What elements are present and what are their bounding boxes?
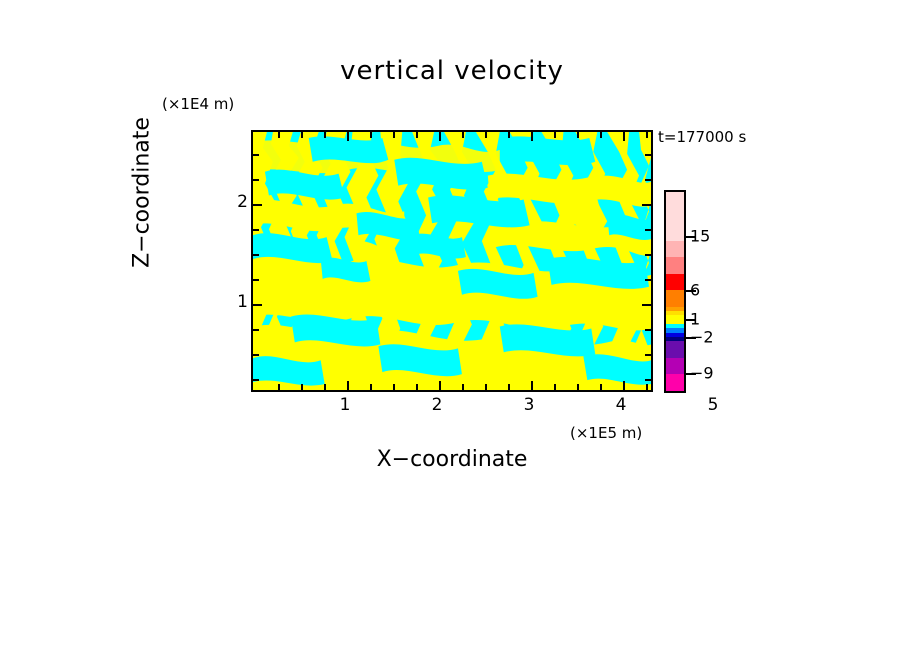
y-tick [253, 379, 259, 381]
colorbar-label: 1 [690, 310, 700, 329]
x-tick-top [485, 132, 487, 138]
y-tick-label: 1 [226, 292, 248, 312]
x-tick [508, 384, 510, 390]
x-tick-major [623, 381, 625, 390]
y-tick-right [645, 254, 651, 256]
y-tick [253, 254, 259, 256]
colorbar-band-1 [666, 241, 684, 258]
x-tick-top [393, 132, 395, 138]
colorbar-band-3 [666, 274, 684, 291]
y-tick [253, 179, 259, 181]
x-tick-top-major [623, 132, 625, 141]
y-tick-major [253, 204, 262, 206]
y-tick [253, 354, 259, 356]
y-tick-right [645, 179, 651, 181]
x-tick-top [600, 132, 602, 138]
x-tick [324, 384, 326, 390]
x-tick-top [324, 132, 326, 138]
x-tick-top [508, 132, 510, 138]
y-axis-title: Z−coordinate [130, 43, 155, 343]
colorbar[interactable] [664, 190, 686, 393]
x-tick-top [278, 132, 280, 138]
x-tick-top [370, 132, 372, 138]
y-tick-label: 2 [226, 192, 248, 212]
x-tick [278, 384, 280, 390]
x-tick-top [577, 132, 579, 138]
x-tick [554, 384, 556, 390]
x-tick-top-major [439, 132, 441, 141]
colorbar-band-15 [666, 374, 684, 391]
colorbar-band-4 [666, 290, 684, 307]
x-tick-label: 4 [616, 395, 627, 415]
x-tick-label: 5 [708, 395, 719, 415]
x-tick [393, 384, 395, 390]
x-axis-title: X−coordinate [251, 447, 653, 472]
colorbar-label: 6 [690, 281, 700, 300]
y-tick [253, 279, 259, 281]
x-tick-top-major [347, 132, 349, 141]
x-tick-major [347, 381, 349, 390]
y-tick-right [645, 154, 651, 156]
y-tick-right [645, 279, 651, 281]
velocity-field-heatmap [253, 132, 651, 390]
x-tick-top [554, 132, 556, 138]
x-axis-units-label: (×1E5 m) [570, 424, 642, 442]
plot-area[interactable] [251, 130, 653, 392]
y-tick [253, 329, 259, 331]
x-tick [462, 384, 464, 390]
y-tick-right [645, 329, 651, 331]
colorbar-label: −9 [690, 364, 714, 383]
x-tick-top [646, 132, 648, 138]
y-tick-right-major [642, 304, 651, 306]
y-tick-major [253, 304, 262, 306]
colorbar-label: 15 [690, 227, 710, 246]
x-tick [646, 384, 648, 390]
x-tick [485, 384, 487, 390]
y-tick-right [645, 354, 651, 356]
colorbar-label: −2 [690, 328, 714, 347]
x-tick [600, 384, 602, 390]
x-tick-label: 3 [524, 395, 535, 415]
x-tick [370, 384, 372, 390]
x-tick [577, 384, 579, 390]
x-tick-label: 2 [432, 395, 443, 415]
x-tick [416, 384, 418, 390]
y-tick [253, 229, 259, 231]
colorbar-band-13 [666, 341, 684, 358]
colorbar-band-14 [666, 358, 684, 375]
y-tick [253, 154, 259, 156]
x-tick-major [531, 381, 533, 390]
y-tick-right-major [642, 204, 651, 206]
x-tick-top [462, 132, 464, 138]
x-tick [301, 384, 303, 390]
colorbar-band-2 [666, 257, 684, 274]
x-tick-top-major [531, 132, 533, 141]
y-tick-right [645, 229, 651, 231]
x-tick-top [301, 132, 303, 138]
x-tick-top [416, 132, 418, 138]
x-tick-major [439, 381, 441, 390]
y-axis-units-label: (×1E4 m) [162, 95, 234, 113]
colorbar-band-0 [666, 192, 684, 241]
y-tick-right [645, 379, 651, 381]
x-tick-label: 1 [340, 395, 351, 415]
time-annotation: t=177000 s [658, 128, 746, 146]
